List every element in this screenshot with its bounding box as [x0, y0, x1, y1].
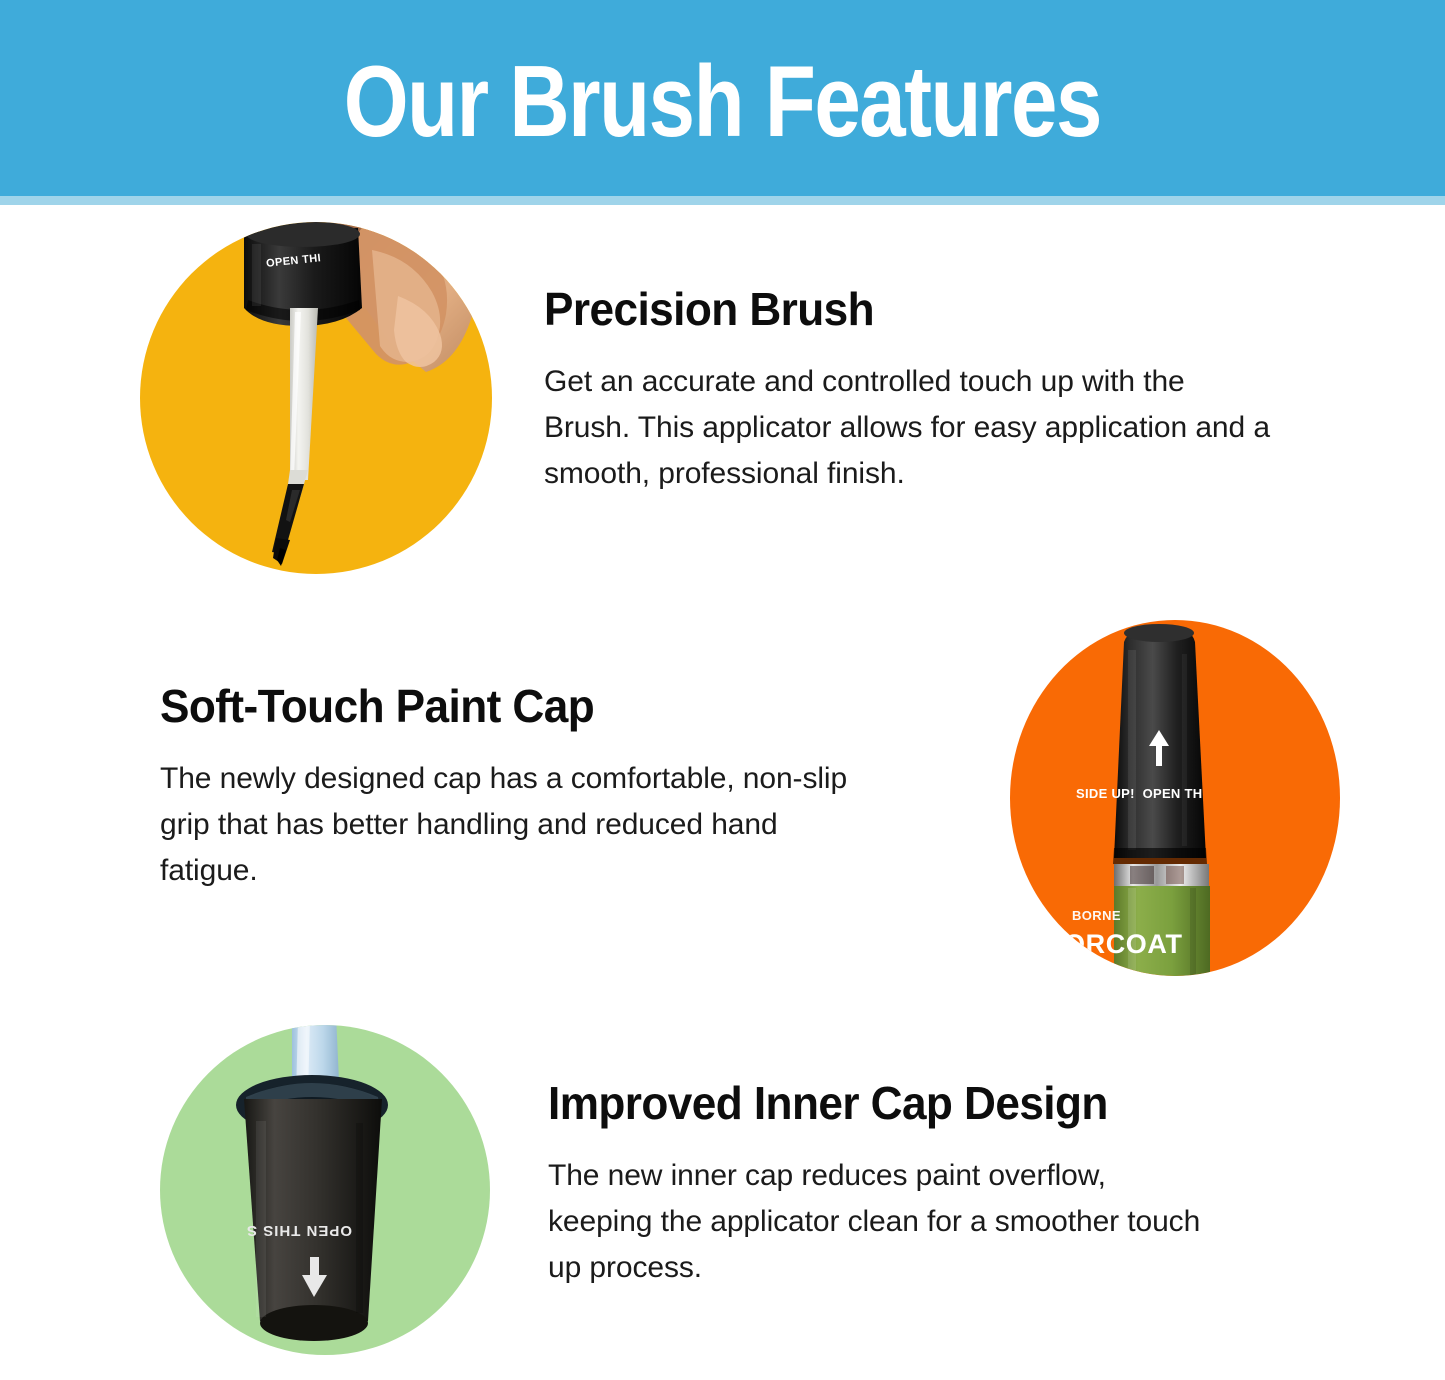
tapered-cap-illustration — [1113, 624, 1207, 864]
feature-row-precision-brush: OPEN THI Precision Brush Get an accurate… — [140, 222, 1320, 574]
soft-touch-cap-media: SIDE UP! OPEN TH BORNE ORCOAT — [1010, 620, 1340, 976]
inner-cap-copy: Improved Inner Cap Design The new inner … — [490, 1079, 1320, 1302]
page-title: Our Brush Features — [344, 44, 1101, 153]
feature-body-soft-touch-paint-cap: The newly designed cap has a comfortable… — [160, 756, 880, 895]
brush-tip-illustration — [272, 484, 304, 566]
soft-touch-cap-photo: SIDE UP! OPEN TH BORNE ORCOAT — [1010, 620, 1340, 976]
inner-cap-photo: OPEN THIS S — [160, 1025, 490, 1355]
feature-body-precision-brush: Get an accurate and controlled touch up … — [544, 359, 1274, 498]
precision-brush-photo: OPEN THI — [140, 222, 492, 574]
inner-cap-media: OPEN THIS S — [160, 1025, 490, 1355]
soft-touch-cap-copy: Soft-Touch Paint Cap The newly designed … — [160, 682, 1010, 915]
feature-title-precision-brush: Precision Brush — [544, 285, 1289, 333]
outer-cap-body-illustration — [244, 1099, 382, 1341]
silver-band-illustration — [1114, 864, 1209, 886]
feature-title-soft-touch-paint-cap: Soft-Touch Paint Cap — [160, 682, 918, 730]
infographic-page: Our Brush Features — [0, 0, 1445, 1380]
feature-row-improved-inner-cap-design: OPEN THIS S Improved Inner Cap Design Th… — [160, 1025, 1320, 1355]
precision-brush-copy: Precision Brush Get an accurate and cont… — [492, 285, 1320, 512]
precision-brush-media: OPEN THI — [140, 222, 492, 574]
green-bottle-illustration — [1114, 886, 1210, 976]
header-banner: Our Brush Features — [0, 0, 1445, 196]
applicator-stem-illustration — [286, 308, 318, 498]
feature-body-improved-inner-cap-design: The new inner cap reduces paint overflow… — [548, 1153, 1208, 1292]
feature-row-soft-touch-paint-cap: Soft-Touch Paint Cap The newly designed … — [160, 620, 1340, 976]
feature-title-improved-inner-cap-design: Improved Inner Cap Design — [548, 1079, 1289, 1127]
header-underline-divider — [0, 196, 1445, 205]
